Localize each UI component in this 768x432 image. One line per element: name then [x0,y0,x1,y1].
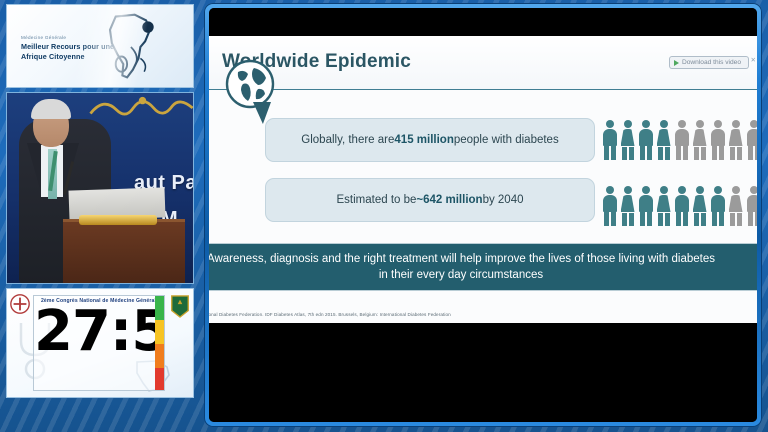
person-male-icon [709,120,726,160]
slide-citation: International Diabetes Federation. IDF D… [209,312,731,317]
person-female-icon [727,120,744,160]
callout-1-highlight: 415 million [394,134,453,146]
banner-text: Awareness, diagnosis and the right treat… [209,251,715,284]
person-male-icon [745,120,757,160]
callout-projection-2040: Estimated to be ~642 million by 2040 [265,178,595,222]
person-male-icon [601,186,618,226]
person-male-icon [637,186,654,226]
person-male-icon [601,120,618,160]
person-male-icon [745,186,757,226]
pictogram-row-projected [601,186,757,226]
timer-value: 27:55 [34,304,165,360]
association-logo-icon [9,293,31,315]
ministry-crest-icon [169,293,191,319]
person-male-icon [637,120,654,160]
callout-1-prefix: Globally, there are [301,134,394,146]
callout-2-prefix: Estimated to be [337,194,417,206]
play-icon [674,60,679,66]
letterbox-bottom [209,389,757,422]
person-male-icon [673,120,690,160]
glass-sheen [7,5,193,87]
callout-2-suffix: by 2040 [483,194,524,206]
person-female-icon [619,186,636,226]
gold-ornament-icon [85,95,194,121]
banner-line-2: in their every day circumstances [379,269,543,281]
pictogram-row-current [601,120,757,160]
banner-line-1: Awareness, diagnosis and the right treat… [209,253,715,265]
person-female-icon [655,186,672,226]
timer-display: 2ème Congrès National de Médecine Généra… [33,295,165,391]
person-female-icon [691,186,708,226]
screen: Médecine Générale Meilleur Recours pour … [0,0,768,432]
slide-banner: Awareness, diagnosis and the right treat… [209,243,757,291]
person-female-icon [727,186,744,226]
left-sidebar: Médecine Générale Meilleur Recours pour … [0,0,199,432]
video-player-frame: Worldwide Epidemic Download this video ✕ [204,3,762,427]
presentation-slide: Worldwide Epidemic Download this video ✕ [209,36,757,323]
countdown-timer-panel: 2ème Congrès National de Médecine Généra… [6,288,194,398]
callout-global-diabetes: Globally, there are 415 million people w… [265,118,595,162]
podium [63,219,185,284]
letterbox-top [209,8,757,36]
timer-color-bars [155,296,164,391]
download-button-label: Download this video [682,59,741,66]
congress-logo-panel: Médecine Générale Meilleur Recours pour … [6,4,194,88]
person-male-icon [709,186,726,226]
download-this-video-button[interactable]: Download this video [669,56,749,69]
person-male-icon [673,186,690,226]
person-female-icon [619,120,636,160]
person-female-icon [655,120,672,160]
person-female-icon [691,120,708,160]
podium-gold-trim [79,215,157,225]
speaker-video-panel[interactable]: aut Pa Di M [6,92,194,284]
callout-1-suffix: people with diabetes [454,134,559,146]
slide-title-bar: Worldwide Epidemic Download this video ✕ [209,36,757,90]
callout-2-highlight: ~642 million [416,194,482,206]
close-icon[interactable]: ✕ [750,56,756,64]
video-player-surface[interactable]: Worldwide Epidemic Download this video ✕ [209,8,757,422]
